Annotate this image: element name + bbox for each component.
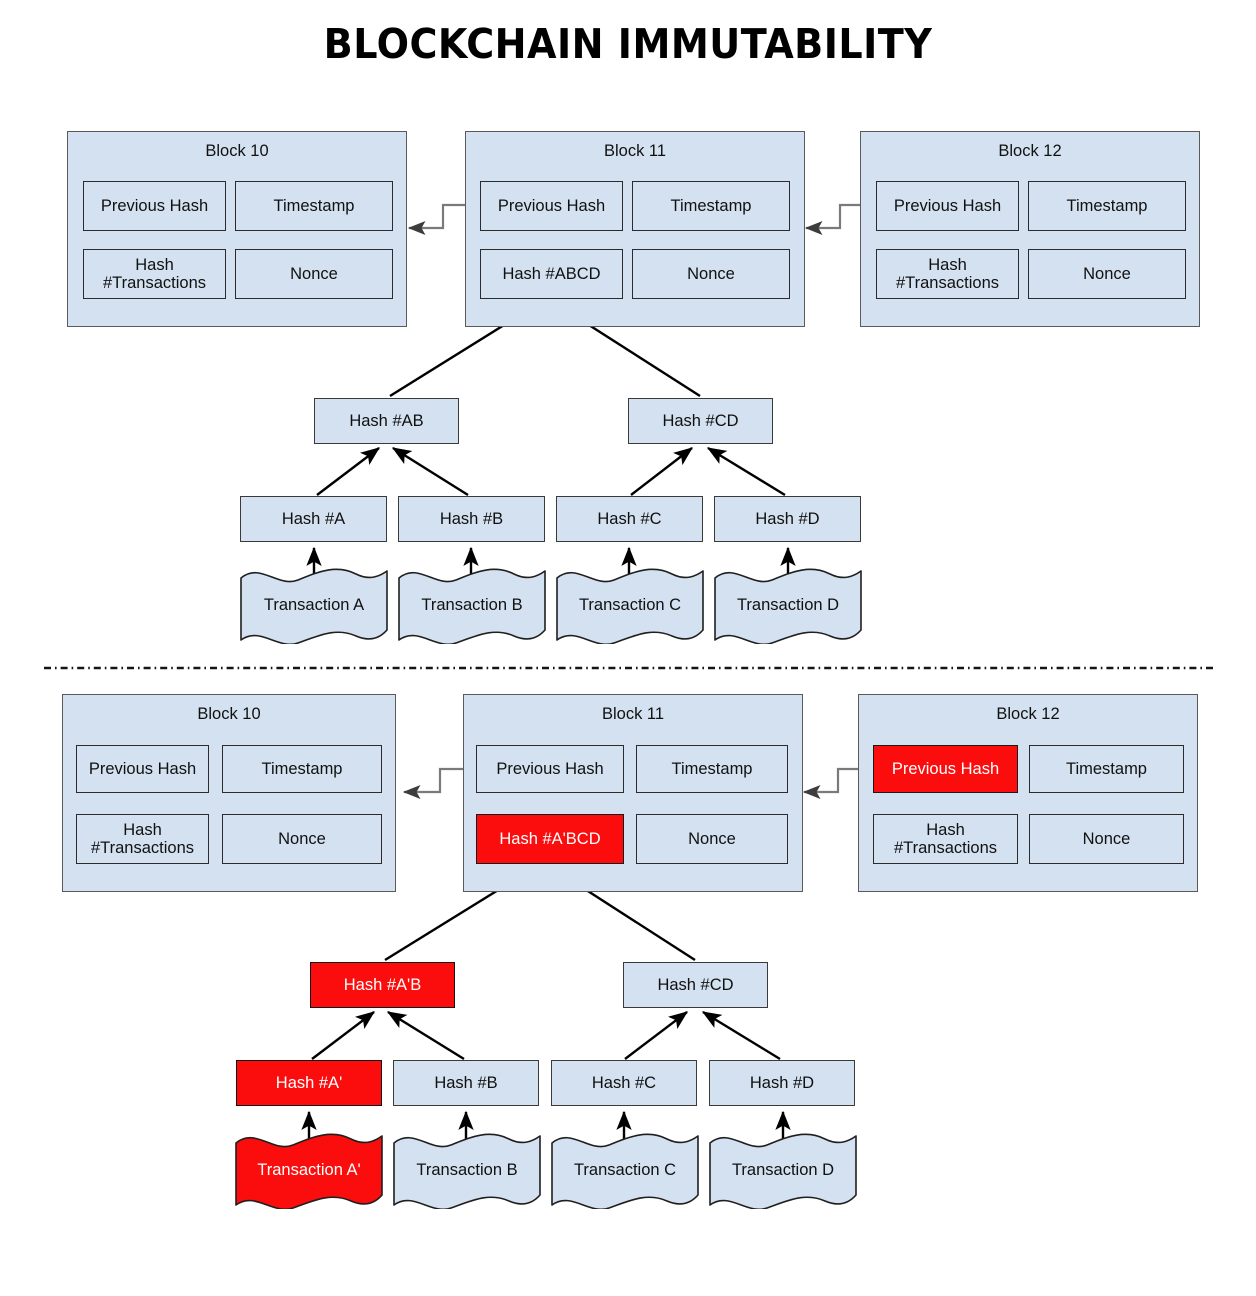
transaction-doc-d[interactable]: Transaction D: [712, 566, 864, 644]
merkle-node-hash-c[interactable]: Hash #C: [551, 1060, 697, 1106]
merkle-node-hash-cd[interactable]: Hash #CD: [628, 398, 773, 444]
block-title: Block 10: [68, 142, 406, 161]
merkle-node-hash-a-prime[interactable]: Hash #A': [236, 1060, 382, 1106]
field-merkle-root[interactable]: Hash #ABCD: [480, 249, 623, 299]
field-hash-transactions[interactable]: Hash #Transactions: [76, 814, 209, 864]
field-nonce[interactable]: Nonce: [1029, 814, 1184, 864]
transaction-doc-a[interactable]: Transaction A: [238, 566, 390, 644]
block-card-10-original[interactable]: Block 10 Previous Hash Timestamp Hash #T…: [67, 131, 407, 327]
block-card-11-tampered[interactable]: Block 11 Previous Hash Timestamp Hash #A…: [463, 694, 803, 892]
field-timestamp[interactable]: Timestamp: [636, 745, 788, 793]
transaction-doc-c[interactable]: Transaction C: [549, 1131, 701, 1209]
diagram-canvas: BLOCKCHAIN IMMUTABILITY: [0, 0, 1256, 1296]
field-previous-hash[interactable]: Previous Hash: [876, 181, 1019, 231]
block-title: Block 11: [466, 142, 804, 161]
block-card-10-tampered[interactable]: Block 10 Previous Hash Timestamp Hash #T…: [62, 694, 396, 892]
field-nonce[interactable]: Nonce: [222, 814, 382, 864]
merkle-node-hash-cd[interactable]: Hash #CD: [623, 962, 768, 1008]
field-previous-hash[interactable]: Previous Hash: [873, 745, 1018, 793]
field-timestamp[interactable]: Timestamp: [222, 745, 382, 793]
field-nonce[interactable]: Nonce: [1028, 249, 1186, 299]
chain-link-bottom-11-to-10: [404, 769, 472, 792]
merkle-node-hash-d[interactable]: Hash #D: [709, 1060, 855, 1106]
block-card-11-original[interactable]: Block 11 Previous Hash Timestamp Hash #A…: [465, 131, 805, 327]
wavy-document-icon: [396, 566, 548, 644]
block-title: Block 11: [464, 705, 802, 724]
merkle-node-hash-d[interactable]: Hash #D: [714, 496, 861, 542]
transaction-doc-d[interactable]: Transaction D: [707, 1131, 859, 1209]
field-previous-hash[interactable]: Previous Hash: [476, 745, 624, 793]
block-title: Block 12: [859, 705, 1197, 724]
wavy-document-icon: [549, 1131, 701, 1209]
merkle-node-hash-b[interactable]: Hash #B: [393, 1060, 539, 1106]
merkle-node-hash-c[interactable]: Hash #C: [556, 496, 703, 542]
wavy-document-icon: [391, 1131, 543, 1209]
field-timestamp[interactable]: Timestamp: [235, 181, 393, 231]
merkle-node-hash-a[interactable]: Hash #A: [240, 496, 387, 542]
wavy-document-icon: [712, 566, 864, 644]
block-title: Block 12: [861, 142, 1199, 161]
field-nonce[interactable]: Nonce: [235, 249, 393, 299]
wavy-document-icon: [707, 1131, 859, 1209]
field-hash-transactions[interactable]: Hash #Transactions: [83, 249, 226, 299]
field-hash-transactions[interactable]: Hash #Transactions: [876, 249, 1019, 299]
wavy-document-icon: [233, 1131, 385, 1209]
block-card-12-tampered[interactable]: Block 12 Previous Hash Timestamp Hash #T…: [858, 694, 1198, 892]
merkle-node-hash-b[interactable]: Hash #B: [398, 496, 545, 542]
block-title: Block 10: [63, 705, 395, 724]
field-previous-hash[interactable]: Previous Hash: [76, 745, 209, 793]
transaction-doc-a-prime[interactable]: Transaction A': [233, 1131, 385, 1209]
wavy-document-icon: [554, 566, 706, 644]
block-card-12-original[interactable]: Block 12 Previous Hash Timestamp Hash #T…: [860, 131, 1200, 327]
field-nonce[interactable]: Nonce: [632, 249, 790, 299]
transaction-doc-b[interactable]: Transaction B: [391, 1131, 543, 1209]
field-timestamp[interactable]: Timestamp: [1029, 745, 1184, 793]
merkle-node-hash-ab[interactable]: Hash #AB: [314, 398, 459, 444]
field-previous-hash[interactable]: Previous Hash: [480, 181, 623, 231]
field-merkle-root[interactable]: Hash #A'BCD: [476, 814, 624, 864]
wavy-document-icon: [238, 566, 390, 644]
field-timestamp[interactable]: Timestamp: [1028, 181, 1186, 231]
field-nonce[interactable]: Nonce: [636, 814, 788, 864]
transaction-doc-c[interactable]: Transaction C: [554, 566, 706, 644]
merkle-node-hash-a-prime-b[interactable]: Hash #A'B: [310, 962, 455, 1008]
field-timestamp[interactable]: Timestamp: [632, 181, 790, 231]
page-title: BLOCKCHAIN IMMUTABILITY: [44, 20, 1212, 68]
field-previous-hash[interactable]: Previous Hash: [83, 181, 226, 231]
field-hash-transactions[interactable]: Hash #Transactions: [873, 814, 1018, 864]
transaction-doc-b[interactable]: Transaction B: [396, 566, 548, 644]
